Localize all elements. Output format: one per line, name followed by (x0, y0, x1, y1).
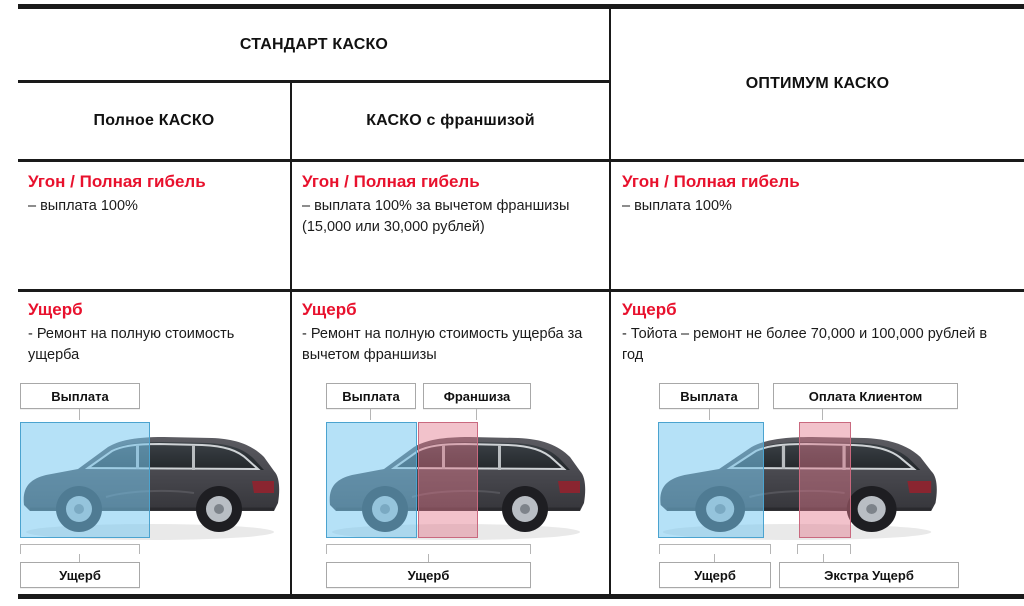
col3-payout-overlay (658, 422, 764, 538)
col2-bottom-connector (428, 554, 429, 562)
col2-bottom-label-damage-text: Ущерб (408, 568, 450, 583)
col2-bottom-bracket (326, 544, 531, 554)
col3-top-label-client-payment: Оплата Клиентом (773, 383, 958, 409)
cell-damage-col1-title: Ущерб (28, 300, 278, 320)
col1-bottom-connector (79, 554, 80, 562)
header-col-full-kasko: Полное КАСКО (18, 83, 290, 159)
cell-damage-col3-title: Ущерб (622, 300, 1012, 320)
cell-damage-col2: Ущерб - Ремонт на полную стоимость ущерб… (302, 300, 602, 366)
col2-top-label-franchise-text: Франшиза (444, 389, 510, 404)
col1-bottom-label-damage-text: Ущерб (59, 568, 101, 583)
col2-top-label-franchise: Франшиза (423, 383, 531, 409)
col3-bottom-connector-extra (823, 554, 824, 562)
col1-top-label-payout-text: Выплата (51, 389, 108, 404)
col3-extra-damage-overlay (799, 422, 851, 538)
cell-theft-col2-text: – выплата 100% за вычетом франшизы (15,0… (302, 196, 597, 238)
table-bottom-border (18, 594, 1024, 599)
col1-car-illustration (16, 419, 284, 544)
header-group-standard-label: СТАНДАРТ КАСКО (240, 36, 388, 54)
cell-theft-col1: Угон / Полная гибель – выплата 100% (28, 172, 278, 217)
comparison-table: СТАНДАРТ КАСКО ОПТИМУМ КАСКО Полное КАСК… (0, 0, 1024, 606)
header-col-kasko-franchise-label: КАСКО с франшизой (366, 112, 535, 130)
cell-theft-col2: Угон / Полная гибель – выплата 100% за в… (302, 172, 597, 238)
cell-theft-col3: Угон / Полная гибель – выплата 100% (622, 172, 1007, 217)
col3-bottom-bracket-extra (797, 544, 851, 554)
header-col-kasko-franchise: КАСКО с франшизой (292, 83, 609, 159)
header-group-optimum: ОПТИМУМ КАСКО (611, 9, 1024, 159)
cell-damage-col3: Ущерб - Тойота – ремонт не более 70,000 … (622, 300, 1012, 366)
col3-bottom-connector-damage (714, 554, 715, 562)
col3-bottom-label-damage-text: Ущерб (694, 568, 736, 583)
col3-bottom-bracket-damage (659, 544, 771, 554)
col3-car-illustration (652, 419, 942, 544)
col3-bottom-label-extra-damage-text: Экстра Ущерб (824, 568, 914, 583)
col2-franchise-overlay (418, 422, 478, 538)
row-divider (18, 289, 1024, 292)
header-group-standard: СТАНДАРТ КАСКО (18, 9, 610, 80)
col1-top-label-payout: Выплата (20, 383, 140, 409)
col3-bottom-label-extra-damage: Экстра Ущерб (779, 562, 959, 588)
col1-bottom-bracket (20, 544, 140, 554)
col3-top-label-client-payment-text: Оплата Клиентом (809, 389, 923, 404)
cell-damage-col1: Ущерб - Ремонт на полную стоимость ущерб… (28, 300, 278, 366)
cell-damage-col2-text: - Ремонт на полную стоимость ущерба за в… (302, 324, 602, 366)
cell-theft-col1-title: Угон / Полная гибель (28, 172, 278, 192)
cell-theft-col3-title: Угон / Полная гибель (622, 172, 1007, 192)
col2-top-label-payout-text: Выплата (342, 389, 399, 404)
col1-payout-overlay (20, 422, 150, 538)
cell-theft-col2-title: Угон / Полная гибель (302, 172, 597, 192)
col3-top-label-payout: Выплата (659, 383, 759, 409)
cell-theft-col1-text: – выплата 100% (28, 196, 278, 217)
cell-theft-col3-text: – выплата 100% (622, 196, 1007, 217)
col2-top-label-payout: Выплата (326, 383, 416, 409)
header-body-divider (18, 159, 1024, 162)
header-col-full-kasko-label: Полное КАСКО (94, 112, 215, 130)
col2-payout-overlay (326, 422, 417, 538)
cell-damage-col2-title: Ущерб (302, 300, 602, 320)
col3-top-label-payout-text: Выплата (680, 389, 737, 404)
header-group-optimum-label: ОПТИМУМ КАСКО (746, 75, 890, 93)
col2-bottom-label-damage: Ущерб (326, 562, 531, 588)
cell-damage-col1-text: - Ремонт на полную стоимость ущерба (28, 324, 278, 366)
col2-car-illustration (322, 419, 590, 544)
cell-damage-col3-text: - Тойота – ремонт не более 70,000 и 100,… (622, 324, 1012, 366)
col3-bottom-label-damage: Ущерб (659, 562, 771, 588)
col1-bottom-label-damage: Ущерб (20, 562, 140, 588)
